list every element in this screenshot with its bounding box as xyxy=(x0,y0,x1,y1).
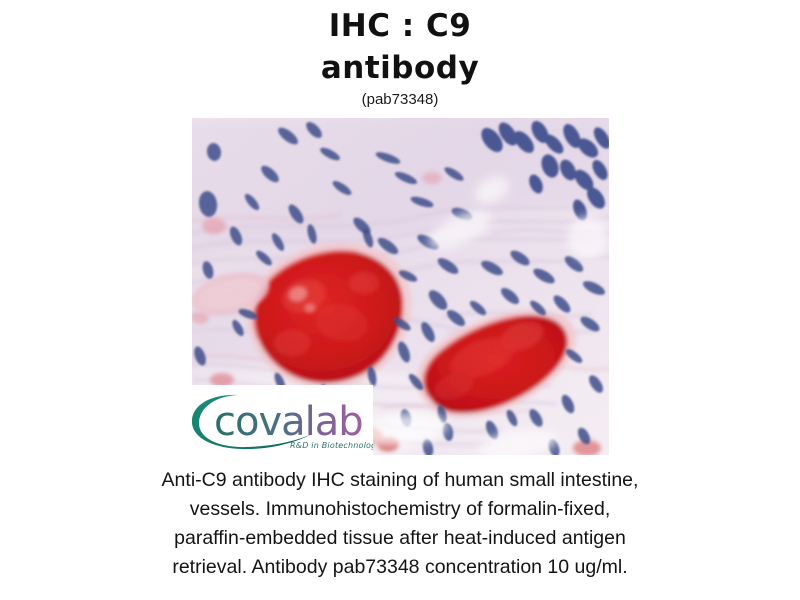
covalab-logo-mark: covalab R&D in Biotechnology xyxy=(192,385,373,455)
caption-line: paraffin-embedded tissue after heat-indu… xyxy=(74,524,726,553)
figure-header: IHC : C9 antibody (pab73348) xyxy=(0,0,800,110)
caption-line: retrieval. Antibody pab73348 concentrati… xyxy=(74,553,726,582)
figure-caption: Anti-C9 antibody IHC staining of human s… xyxy=(0,466,800,582)
caption-line: vessels. Immunohistochemistry of formali… xyxy=(74,495,726,524)
covalab-wordmark: covalab xyxy=(214,399,363,445)
page-title-line-2: antibody xyxy=(0,48,800,88)
ihc-micrograph: covalab R&D in Biotechnology xyxy=(192,118,609,455)
caption-line: Anti-C9 antibody IHC staining of human s… xyxy=(74,466,726,495)
page-title-line-1: IHC : C9 xyxy=(0,6,800,46)
antibody-catalog-number: (pab73348) xyxy=(0,90,800,110)
covalab-tagline: R&D in Biotechnology xyxy=(290,441,373,450)
covalab-logo: covalab R&D in Biotechnology xyxy=(192,385,373,455)
